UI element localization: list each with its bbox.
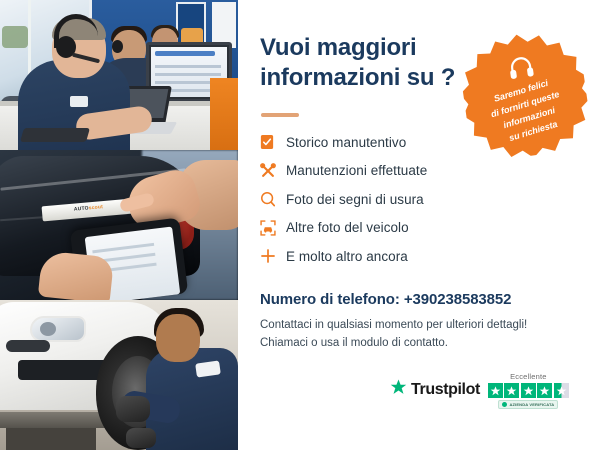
feature-item-storico-manutentivo: Storico manutentivo (260, 128, 520, 157)
trustpilot-star-icon (390, 379, 407, 400)
inspector-hand-lower (38, 250, 114, 300)
car-photo-frame-icon (260, 220, 286, 236)
vehicle-lift-base (6, 428, 96, 450)
car-headlight (30, 316, 86, 342)
verified-check-icon (502, 402, 507, 407)
contact-subtext: Contattaci in qualsiasi momento per ulte… (260, 317, 560, 353)
mechanic-glove-lower (126, 428, 156, 448)
content-panel: Vuoi maggiori informazioni su ? Saremo f… (238, 0, 600, 450)
star-filled (504, 383, 519, 398)
plus-icon (260, 248, 286, 264)
agent-two-headset (112, 40, 123, 53)
greenery-shape (2, 26, 28, 48)
feature-label: Manutenzioni effettuate (286, 163, 427, 178)
feature-item-molto-altro: E molto altro ancora (260, 242, 520, 271)
vehicle-inspection-tablet-photo: AUTOscout (0, 150, 238, 300)
contact-subtext-line-2: Chiamaci o usa il modulo di contatto. (260, 335, 560, 353)
feature-list: Storico manutentivo Manutenzioni effettu… (260, 128, 520, 271)
agent-one-name-badge (70, 96, 88, 107)
clipboard-check-icon (260, 134, 286, 150)
photo-strip: AUTOscout (0, 0, 238, 450)
keyboard (20, 128, 90, 142)
feature-item-altre-foto-veicolo: Altre foto del veicolo (260, 214, 520, 243)
feature-label: Altre foto del veicolo (286, 220, 409, 235)
title-underline-rule (261, 113, 299, 117)
star-filled (521, 383, 536, 398)
car-lower-grille (18, 360, 110, 380)
headset-icon (507, 54, 536, 81)
feature-label: Storico manutentivo (286, 135, 406, 150)
phone-number-text: Numero di telefono: +390238583852 (260, 291, 511, 308)
mechanic-glove-upper (116, 396, 150, 422)
trustpilot-logo: Trustpilot (390, 372, 480, 400)
star-filled (488, 383, 503, 398)
mechanic-wheel-photo (0, 300, 238, 450)
magnifier-icon (260, 191, 286, 207)
feature-label: E molto altro ancora (286, 249, 408, 264)
trustpilot-widget[interactable]: Trustpilot Eccellente (390, 372, 569, 409)
trustpilot-wordmark: Trustpilot (411, 381, 480, 399)
orange-vest (210, 78, 238, 150)
call-center-agents-photo (0, 0, 238, 150)
feature-item-manutenzioni-effettuate: Manutenzioni effettuate (260, 157, 520, 186)
headlight-inner (40, 322, 56, 336)
feature-item-foto-segni-usura: Foto dei segni di usura (260, 185, 520, 214)
star-half (554, 383, 569, 398)
verified-label: AZIENDA VERIFICATA (509, 402, 554, 407)
promo-banner: AUTOscout (0, 0, 600, 450)
trustpilot-stars (488, 383, 569, 398)
star-filled (537, 383, 552, 398)
car-upper-grille (6, 340, 50, 352)
contact-subtext-line-1: Contattaci in qualsiasi momento per ulte… (260, 317, 560, 335)
page-title: Vuoi maggiori informazioni su ? (260, 33, 470, 93)
trustpilot-rating-block: Eccellente (488, 372, 569, 409)
verified-business-badge: AZIENDA VERIFICATA (498, 400, 558, 409)
feature-label: Foto dei segni di usura (286, 192, 424, 207)
wrench-screwdriver-icon (260, 163, 286, 179)
trustpilot-rating-label: Eccellente (510, 372, 547, 381)
mechanic-head (156, 314, 200, 362)
